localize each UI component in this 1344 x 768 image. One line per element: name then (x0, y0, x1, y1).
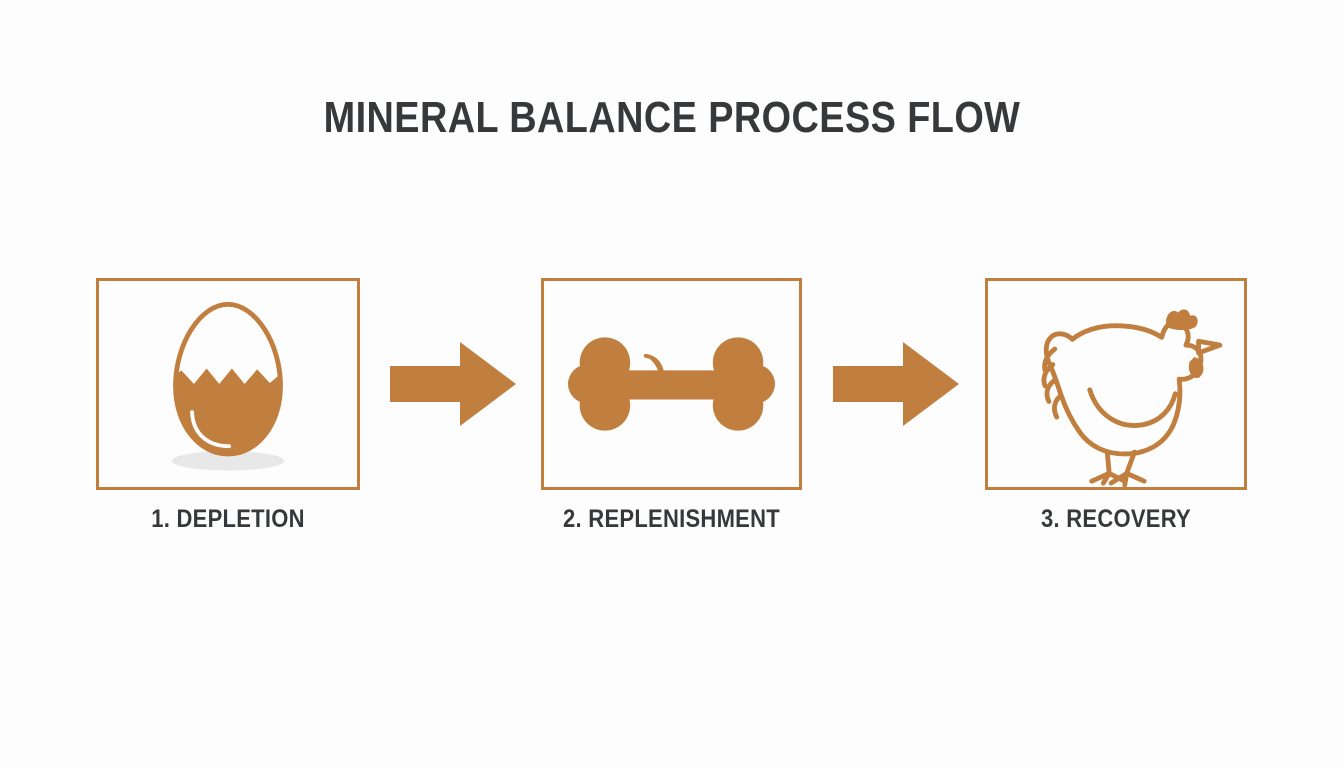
bone-icon (544, 281, 799, 487)
arrow-right-icon (833, 340, 959, 428)
icon-frame-3 (985, 278, 1247, 490)
step-label-2: 2. REPLENISHMENT (557, 506, 787, 534)
icon-frame-2 (541, 278, 802, 490)
process-flow: 1. DEPLETION (0, 278, 1344, 548)
process-step-3[interactable]: 3. RECOVERY (985, 278, 1247, 534)
flow-connector-2 (833, 340, 959, 428)
flow-connector-1 (390, 340, 516, 428)
arrow-right-icon (390, 340, 516, 428)
cracked-egg-icon (99, 281, 357, 487)
icon-frame-1 (96, 278, 360, 490)
infographic-canvas: MINERAL BALANCE PROCESS FLOW (0, 0, 1344, 768)
step-label-3: 3. RECOVERY (1001, 506, 1232, 534)
chicken-icon (988, 281, 1244, 487)
process-step-1[interactable]: 1. DEPLETION (96, 278, 360, 534)
process-step-2[interactable]: 2. REPLENISHMENT (541, 278, 802, 534)
page-title: MINERAL BALANCE PROCESS FLOW (94, 96, 1250, 140)
step-label-1: 1. DEPLETION (112, 506, 344, 534)
